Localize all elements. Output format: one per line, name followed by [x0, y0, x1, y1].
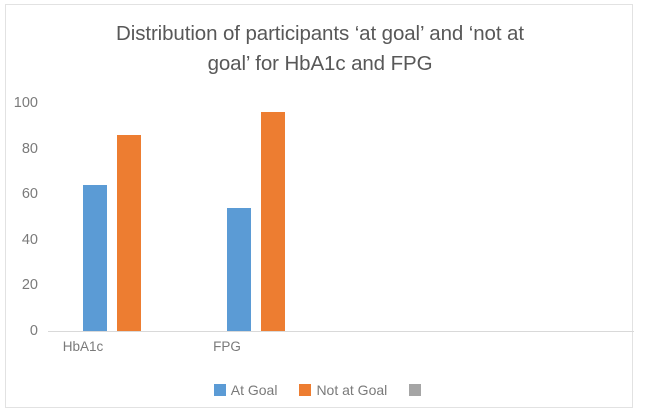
bar-at-goal-fpg[interactable]: [227, 208, 251, 331]
y-axis-tick-80: 80: [0, 141, 38, 157]
chart-legend: At Goal Not at Goal: [6, 382, 634, 398]
legend-item-at-goal[interactable]: At Goal: [214, 382, 278, 398]
x-axis-label-fpg: FPG: [157, 339, 297, 354]
y-axis-tick-0: 0: [0, 323, 38, 339]
bar-at-goal-hba1c[interactable]: [83, 185, 107, 331]
legend-item-not-at-goal[interactable]: Not at Goal: [299, 382, 387, 398]
y-axis-tick-100: 100: [0, 95, 38, 111]
y-axis-tick-40: 40: [0, 232, 38, 248]
legend-label-not-at-goal: Not at Goal: [316, 382, 387, 398]
x-axis-label-hba1c: HbA1c: [13, 339, 153, 354]
legend-item-unnamed[interactable]: [409, 384, 426, 396]
chart-container: Distribution of participants ‘at goal’ a…: [5, 4, 633, 408]
chart-title: Distribution of participants ‘at goal’ a…: [46, 19, 594, 79]
bar-not-at-goal-fpg[interactable]: [261, 112, 285, 331]
legend-label-at-goal: At Goal: [231, 382, 278, 398]
legend-swatch-icon: [214, 384, 226, 396]
bar-not-at-goal-hba1c[interactable]: [117, 135, 141, 331]
category-axis-line: [48, 331, 634, 332]
legend-swatch-icon: [409, 384, 421, 396]
plot-area: 100 80 60 40 20 0: [48, 103, 633, 331]
legend-swatch-icon: [299, 384, 311, 396]
y-axis-tick-60: 60: [0, 186, 38, 202]
y-axis-tick-20: 20: [0, 277, 38, 293]
